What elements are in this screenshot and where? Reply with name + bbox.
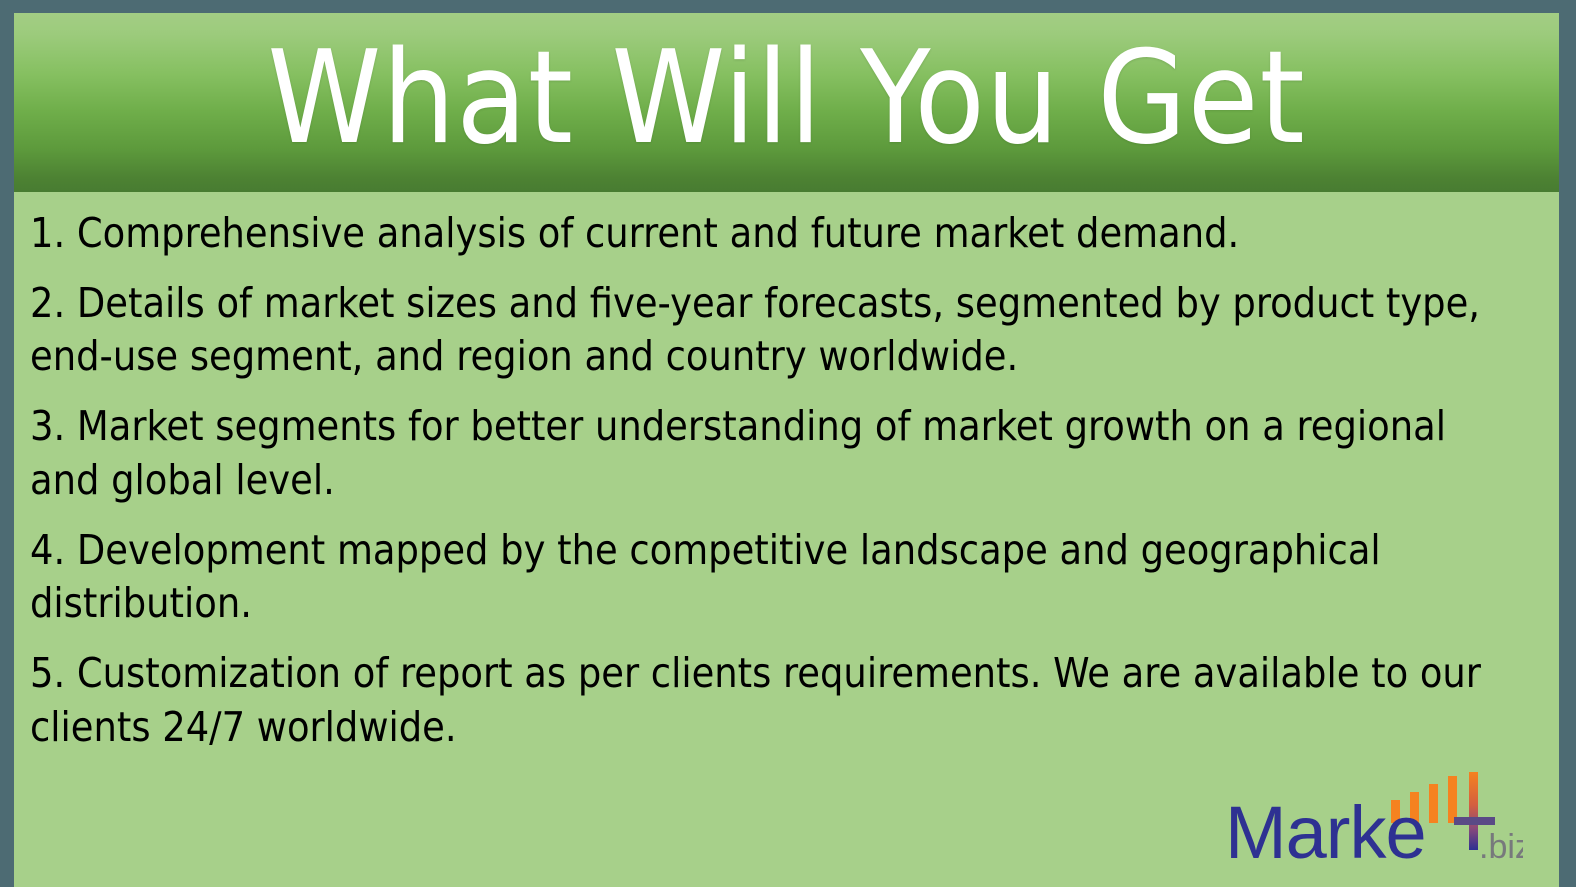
list-item: 2. Details of market sizes and five-year… bbox=[30, 277, 1539, 384]
logo-t-crossbar bbox=[1454, 817, 1495, 825]
logo-suffix: .biz bbox=[1479, 828, 1523, 866]
market-biz-logo: Marke .biz bbox=[1223, 770, 1523, 875]
page-title: What Will You Get bbox=[267, 35, 1305, 163]
logo-wordmark: Marke bbox=[1225, 791, 1426, 874]
slide-frame: What Will You Get 1. Comprehensive analy… bbox=[0, 0, 1576, 887]
slide-canvas: What Will You Get 1. Comprehensive analy… bbox=[14, 13, 1559, 887]
list-item: 3. Market segments for better understand… bbox=[30, 400, 1539, 507]
list-item: 4. Development mapped by the competitive… bbox=[30, 524, 1539, 631]
logo-t-stem bbox=[1469, 772, 1478, 850]
list-item: 5. Customization of report as per client… bbox=[30, 647, 1539, 754]
slide-header-banner: What Will You Get bbox=[14, 13, 1559, 192]
list-item: 1. Comprehensive analysis of current and… bbox=[30, 207, 1539, 261]
